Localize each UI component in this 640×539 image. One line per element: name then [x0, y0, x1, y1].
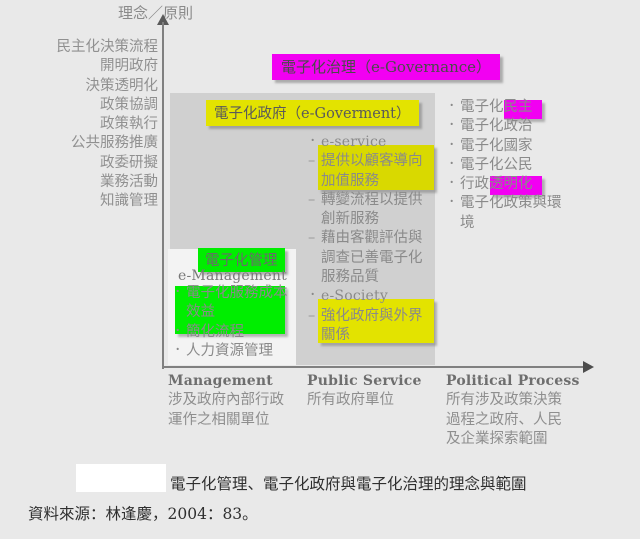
category-line: 運作之相關單位: [168, 411, 308, 430]
political-item-cont: 境: [447, 214, 627, 233]
political-item-plain: 行政: [460, 176, 489, 192]
management-column: 電子化服務成本 效益 簡化流程 人力資源管理: [173, 284, 298, 361]
service-subitem-cont: 服務品質: [308, 268, 438, 287]
category-heading: Public Service: [307, 372, 447, 391]
management-item: 簡化流程: [173, 323, 298, 342]
principle-item: 決策透明化: [18, 77, 158, 96]
public-service-column: e-service 提供以顧客導向 加值服務 轉變流程以提供 創新服務 藉由客觀…: [308, 133, 438, 345]
service-subitem: 提供以顧客導向: [308, 152, 438, 171]
political-item: 電子化政策與環: [447, 194, 627, 213]
vertical-axis-title: 理念／原則: [118, 2, 193, 23]
diagram-canvas: 理念／原則 民主化決策流程 開明政府 決策透明化 政策協調 政策執行 公共服務推…: [0, 0, 640, 539]
principles-list: 民主化決策流程 開明政府 決策透明化 政策協調 政策執行 公共服務推廣 政委研擬…: [18, 38, 158, 212]
service-subitem-cont: 調查已善電子化: [308, 249, 438, 268]
management-item: 人力資源管理: [173, 342, 298, 361]
caption-title: 電子化管理、電子化政府與電子化治理的理念與範圍: [170, 470, 640, 498]
banner-e-governance: 電子化治理（e-Governance）: [272, 54, 500, 80]
category-management: Management 涉及政府內部行政 運作之相關單位: [168, 372, 308, 430]
label-e-management-en: e-Management: [178, 268, 287, 284]
political-item-highlighted: 民主: [504, 99, 533, 115]
principle-item: 知識管理: [18, 192, 158, 211]
principle-item: 公共服務推廣: [18, 134, 158, 153]
service-subitem-cont: 創新服務: [308, 210, 438, 229]
vertical-axis-line: [162, 22, 164, 369]
category-line: 涉及政府內部行政: [168, 391, 308, 410]
political-item: 電子化國家: [447, 137, 627, 156]
principle-item: 民主化決策流程: [18, 38, 158, 57]
category-public-service: Public Service 所有政府單位: [307, 372, 447, 411]
principle-item: 政委研擬: [18, 154, 158, 173]
banner-e-government: 電子化政府（e-Goverment）: [206, 100, 419, 126]
management-item-cont: 效益: [173, 303, 298, 322]
caption-redaction-block: [76, 464, 166, 492]
political-item: 電子化政治: [447, 117, 627, 136]
service-subitem-cont: 關係: [308, 326, 438, 345]
principle-item: 開明政府: [18, 57, 158, 76]
category-line: 及企業探索範圍: [446, 430, 606, 449]
category-line: 所有涉及政策決策: [446, 391, 606, 410]
category-line: 所有政府單位: [307, 391, 447, 410]
service-item-esociety: e-Society: [308, 287, 438, 306]
political-item-highlighted: 透明化: [489, 176, 533, 192]
political-process-column: 電子化民主 電子化政治 電子化國家 電子化公民 行政透明化 電子化政策與環 境: [447, 98, 627, 233]
service-subitem: 藉由客觀評估與: [308, 229, 438, 248]
service-subitem-cont: 加值服務: [308, 172, 438, 191]
horizontal-axis-line: [162, 366, 586, 368]
management-item: 電子化服務成本: [173, 284, 298, 303]
political-item: 行政透明化: [447, 175, 627, 194]
principle-item: 政策協調: [18, 96, 158, 115]
service-item-eservice: e-service: [308, 133, 438, 152]
political-item: 電子化民主: [447, 98, 627, 117]
caption-source: 資料來源：林逢慶，2004：83。: [28, 500, 618, 528]
principle-item: 業務活動: [18, 173, 158, 192]
service-subitem: 強化政府與外界: [308, 307, 438, 326]
category-political-process: Political Process 所有涉及政策決策 過程之政府、人民 及企業探…: [446, 372, 606, 449]
political-item-plain: 電子化: [460, 99, 504, 115]
category-heading: Management: [168, 372, 308, 391]
category-line: 過程之政府、人民: [446, 411, 606, 430]
political-item: 電子化公民: [447, 156, 627, 175]
principle-item: 政策執行: [18, 115, 158, 134]
service-subitem: 轉變流程以提供: [308, 191, 438, 210]
category-heading: Political Process: [446, 372, 606, 391]
